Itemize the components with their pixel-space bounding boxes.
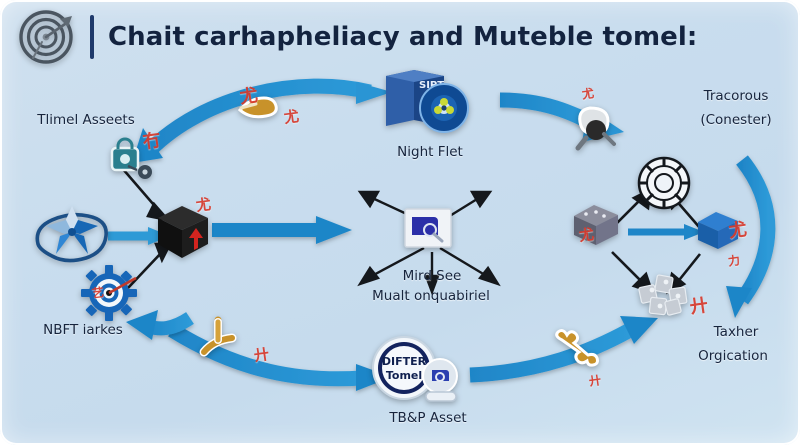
header-divider	[90, 15, 94, 59]
connector-node-icon	[570, 104, 624, 152]
label-mird-see: Mird See	[362, 268, 502, 285]
decorative-mark: 尤	[195, 197, 212, 214]
badge-line2-text: Tomel	[386, 369, 422, 382]
decorative-mark: 尤	[239, 87, 259, 107]
decorative-mark: 尤	[283, 109, 300, 126]
arrow-right-inner	[628, 224, 704, 240]
label-tlimel-assets: Tlimel Asseets	[16, 112, 156, 129]
grey-box-icon	[570, 200, 622, 250]
label-taxher: Taxher	[676, 324, 796, 341]
decorative-mark: 力	[727, 254, 741, 268]
decorative-mark: 艺	[91, 286, 105, 300]
label-mualt-onquabiriel: Mualt onquabiriel	[336, 288, 526, 305]
software-box-disc-icon: SIPT	[378, 66, 474, 140]
decorative-mark: 廾	[689, 297, 709, 317]
decorative-mark: 尤	[578, 227, 595, 244]
label-tracorous: Tracorous	[676, 88, 796, 105]
cluster-icon	[634, 268, 694, 320]
decorative-mark: 尤	[581, 87, 595, 101]
slide-header: Chait carhapheliacy and Muteble tomel:	[16, 6, 790, 68]
gear-target-icon	[78, 264, 140, 322]
hub-node-icon	[404, 208, 452, 248]
page-title: Chait carhapheliacy and Muteble tomel:	[108, 22, 697, 52]
label-conester: (Conester)	[676, 112, 796, 129]
slide-canvas: Chait carhapheliacy and Muteble tomel:	[0, 0, 800, 445]
gold-stick-icon	[196, 318, 244, 362]
decorative-mark: 冇	[142, 132, 162, 152]
decorative-mark: 尤	[728, 221, 748, 241]
network-node-icon	[636, 155, 692, 211]
gold-bone-icon	[552, 330, 600, 366]
decorative-mark: 廾	[253, 347, 270, 364]
label-night-flet: Night Flet	[360, 144, 500, 161]
badge-line1-text: DIFTER	[382, 355, 427, 368]
pinwheel-burst-icon	[32, 198, 112, 274]
label-orgication: Orgication	[668, 348, 798, 365]
label-nbft-iarkes: NBFT iarkes	[8, 322, 158, 339]
target-icon	[16, 6, 78, 68]
round-badge-icon: DIFTER Tomel	[370, 336, 462, 406]
label-tbp-asset: TB&P Asset	[348, 410, 508, 427]
arrow-mid-center	[212, 216, 352, 244]
decorative-mark: 廾	[588, 374, 602, 388]
